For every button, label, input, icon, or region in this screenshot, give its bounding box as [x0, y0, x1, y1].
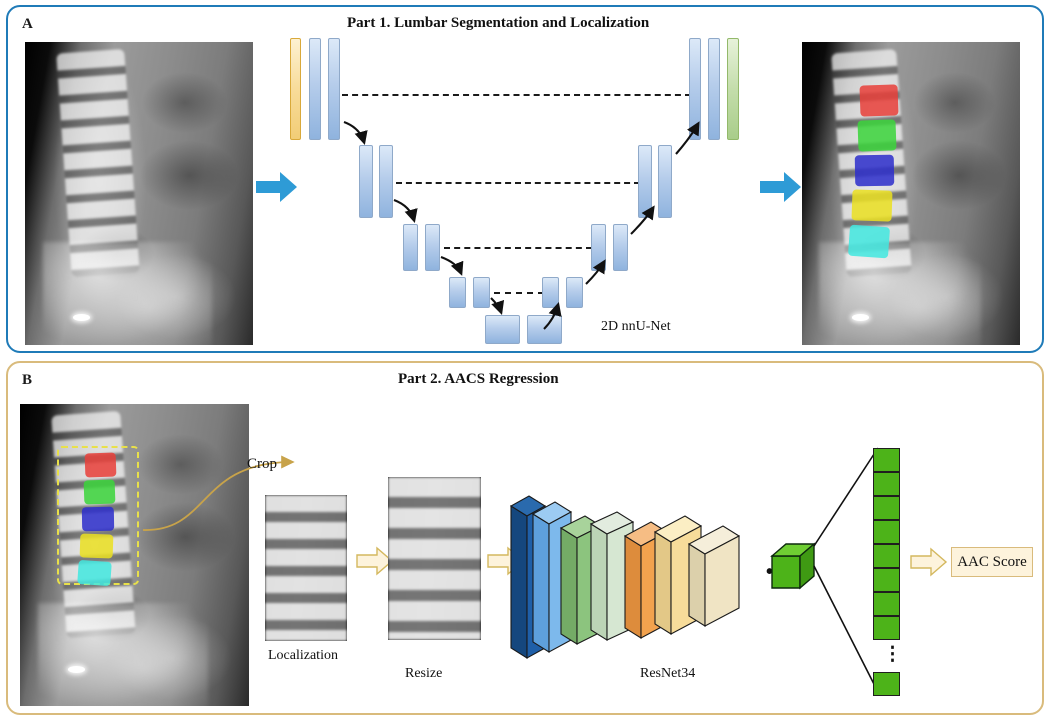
unet-architecture: 2D nnU-Net	[286, 34, 756, 344]
panel-a-title: Part 1. Lumbar Segmentation and Localiza…	[347, 15, 649, 32]
vertebra-l5	[77, 560, 112, 586]
vertebra-l4	[80, 533, 114, 558]
vector-cell	[873, 616, 900, 640]
aac-score-box: AAC Score	[951, 547, 1033, 577]
vector-cell	[873, 568, 900, 592]
localization-crop-image	[265, 495, 347, 641]
vector-cell	[873, 520, 900, 544]
vector-cell	[873, 592, 900, 616]
unet-model-label: 2D nnU-Net	[601, 319, 671, 335]
vertebra-l1	[85, 452, 117, 477]
xray-pelvis	[43, 242, 212, 345]
vector-cell	[873, 672, 900, 696]
vertebra-l1	[859, 84, 898, 116]
xray-marker	[73, 314, 90, 321]
vertebra-l4	[851, 189, 892, 221]
vector-cell	[873, 448, 900, 472]
crop-texture	[388, 477, 481, 640]
resized-crop-image	[388, 477, 481, 640]
vertebra-l2	[84, 479, 116, 504]
xray-marker	[68, 666, 85, 673]
resnet-caption: ResNet34	[640, 666, 695, 682]
panel-b-letter: B	[22, 372, 32, 389]
arrow-vector-to-score	[910, 547, 948, 582]
resize-caption: Resize	[405, 666, 442, 682]
vector-cell	[873, 472, 900, 496]
vector-cell	[873, 544, 900, 568]
resnet-blocks	[505, 462, 795, 662]
crop-texture	[265, 495, 347, 641]
unet-flow-arrows	[286, 34, 756, 344]
vector-ellipsis: ⋮	[883, 652, 902, 658]
panel-b-title: Part 2. AACS Regression	[398, 371, 559, 388]
xray-marker	[852, 314, 869, 321]
xray-pelvis	[38, 603, 207, 706]
crop-label: Crop	[247, 456, 277, 473]
xray-pelvis	[819, 242, 980, 345]
segmented-xray-image	[802, 42, 1020, 345]
vertebra-l3	[855, 155, 895, 187]
vector-cell	[873, 496, 900, 520]
vertebra-l2	[857, 119, 896, 151]
panel-a-letter: A	[22, 16, 33, 33]
localization-caption: Localization	[268, 648, 338, 664]
vertebra-l5	[848, 225, 890, 259]
vertebra-l3	[82, 507, 114, 532]
input-xray-image	[25, 42, 253, 345]
arrow-unet-to-segmented	[760, 170, 802, 209]
